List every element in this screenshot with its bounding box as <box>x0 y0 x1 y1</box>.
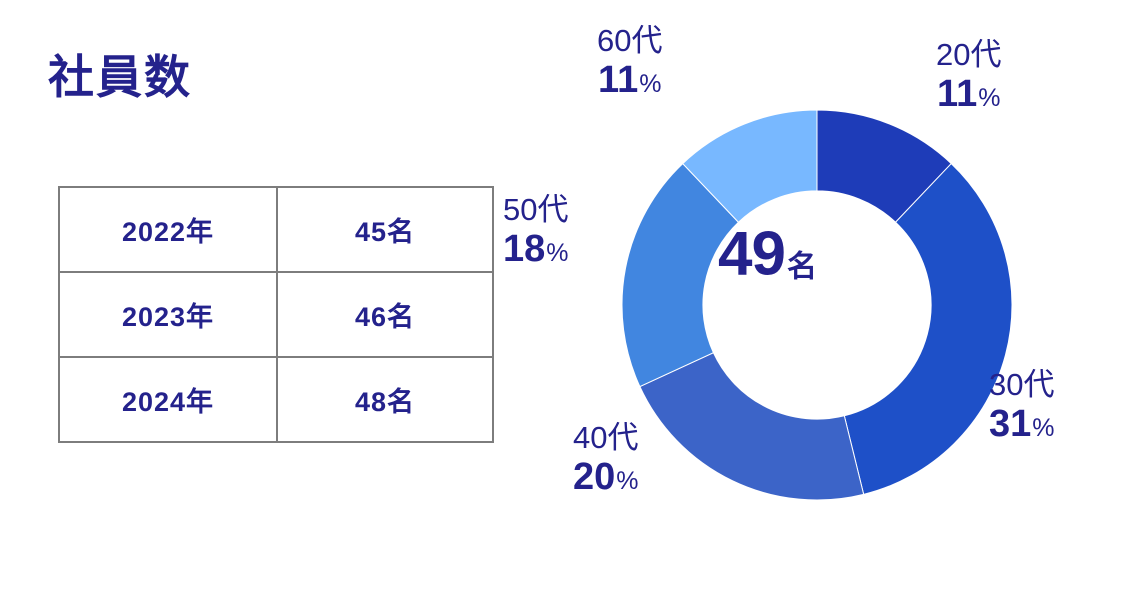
donut-label-age30-value: 31% <box>989 403 1055 446</box>
donut-label-age60-pct: 11 <box>598 59 638 101</box>
percent-sign-icon: % <box>546 239 568 267</box>
donut-label-age40: 40代 20% <box>573 421 639 498</box>
table-cell-year: 2023年 <box>59 272 277 357</box>
donut-label-age50-pct: 18 <box>503 228 545 270</box>
table-cell-count: 45名 <box>277 187 493 272</box>
percent-sign-icon: % <box>1032 414 1054 442</box>
percent-sign-icon: % <box>978 84 1000 112</box>
donut-label-age50-name: 50代 <box>503 193 569 228</box>
donut-label-age40-value: 20% <box>573 456 639 499</box>
donut-center-number: 49 <box>718 226 785 285</box>
table-body: 2022年 45名 2023年 46名 2024年 48名 <box>59 187 493 442</box>
page-title: 社員数 <box>48 52 192 103</box>
donut-center-unit: 名 <box>787 252 817 282</box>
donut-label-age20-pct: 11 <box>937 73 977 115</box>
donut-label-age20-name: 20代 <box>936 38 1001 73</box>
table-row: 2022年 45名 <box>59 187 493 272</box>
donut-label-age40-name: 40代 <box>573 421 639 456</box>
headcount-panel: 社員数 2022年 45名 2023年 46名 2024年 48名 <box>0 0 520 593</box>
percent-sign-icon: % <box>639 70 661 98</box>
table-row: 2024年 48名 <box>59 357 493 442</box>
donut-label-age60-name: 60代 <box>597 24 662 59</box>
table-cell-year: 2022年 <box>59 187 277 272</box>
table-cell-count: 48名 <box>277 357 493 442</box>
donut-label-age30-name: 30代 <box>989 368 1055 403</box>
table-cell-year: 2024年 <box>59 357 277 442</box>
donut-label-age20: 20代 11% <box>936 38 1001 115</box>
donut-center-inner: 49 名 <box>718 226 817 285</box>
donut-label-age50-value: 18% <box>503 228 569 271</box>
table-row: 2023年 46名 <box>59 272 493 357</box>
percent-sign-icon: % <box>616 467 638 495</box>
headcount-table: 2022年 45名 2023年 46名 2024年 48名 <box>58 186 494 443</box>
age-distribution-donut-chart: 49 名 60代 11% 20代 11% 30代 31% 40代 20% 50代… <box>495 0 1148 593</box>
donut-slice-group <box>622 110 1012 500</box>
donut-label-age50: 50代 18% <box>503 193 569 270</box>
donut-slice-30代 <box>844 164 1012 495</box>
donut-label-age30-pct: 31 <box>989 403 1031 445</box>
donut-svg <box>495 0 1148 593</box>
table-cell-count: 46名 <box>277 272 493 357</box>
donut-label-age60: 60代 11% <box>597 24 662 101</box>
donut-slice-40代 <box>640 353 864 500</box>
donut-label-age20-value: 11% <box>936 73 1001 116</box>
donut-label-age30: 30代 31% <box>989 368 1055 445</box>
donut-label-age60-value: 11% <box>597 59 662 102</box>
donut-label-age40-pct: 20 <box>573 456 615 498</box>
